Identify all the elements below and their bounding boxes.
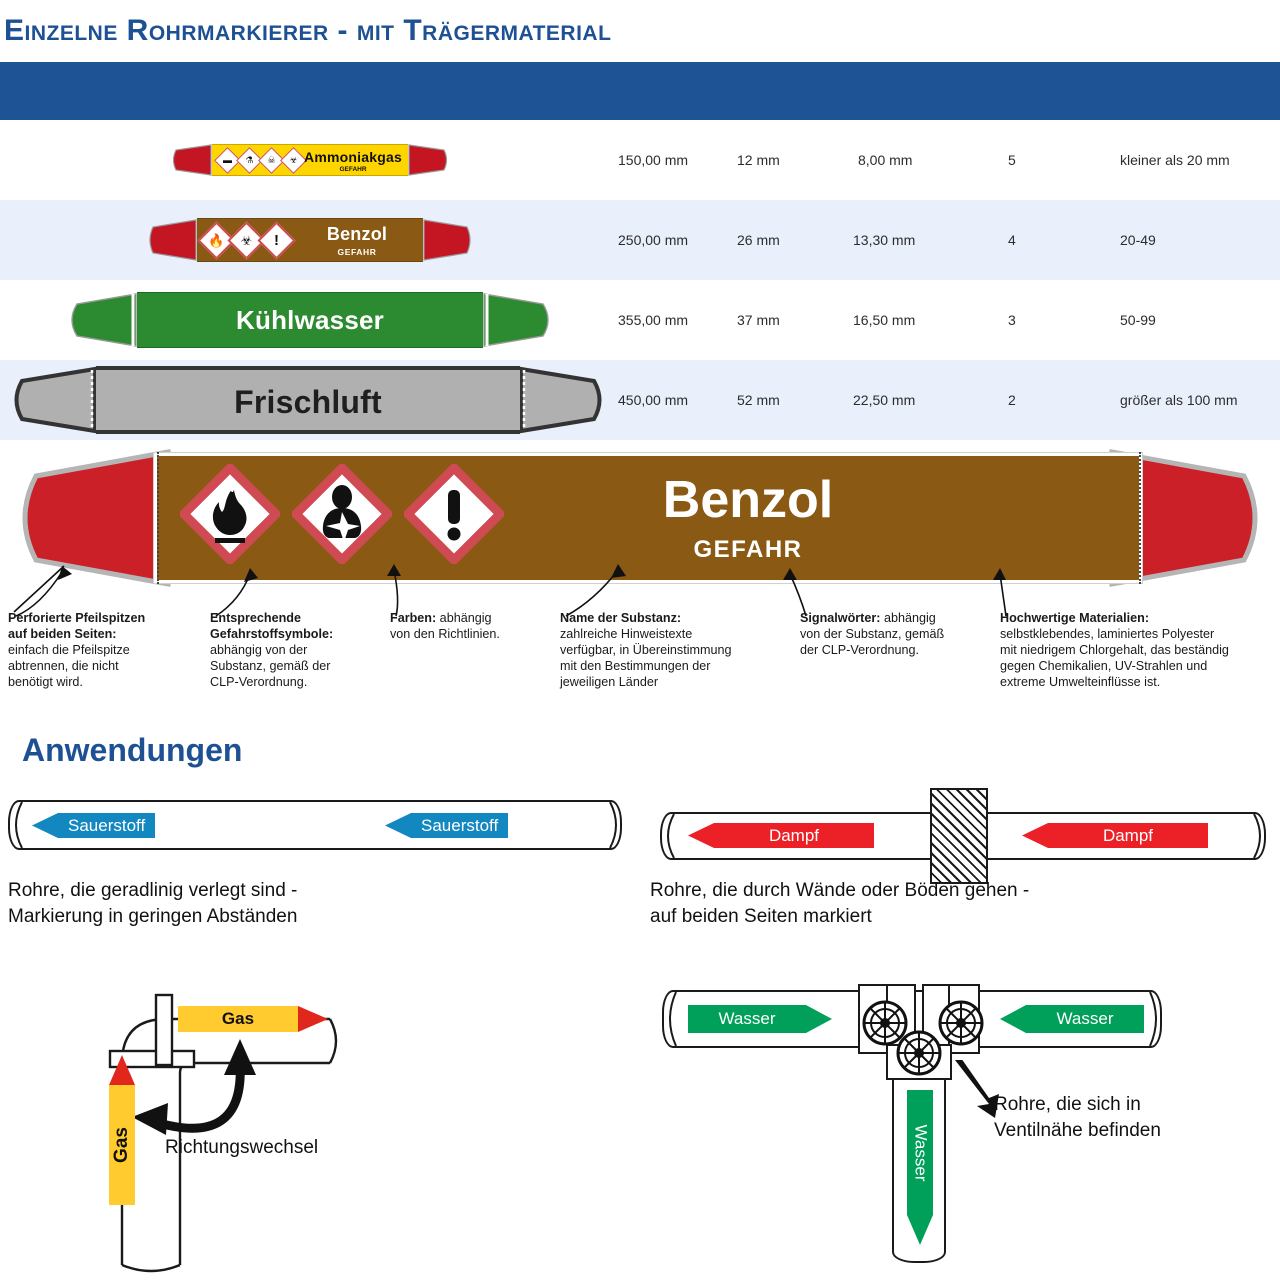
callout-line: extreme Umwelteinflüsse ist. xyxy=(1000,674,1280,690)
flame-icon xyxy=(180,464,280,564)
callout-line: mit den Bestimmungen der xyxy=(560,658,780,674)
marker-signal-word: GEFAHR xyxy=(297,247,417,257)
cell-buchstabenhoehe: 13,30 mm xyxy=(853,232,915,248)
tag-label: Sauerstoff xyxy=(411,816,508,836)
marker-signal-word: GEFAHR xyxy=(438,536,1058,564)
callout-line: gegen Chemikalien, UV-Strahlen und xyxy=(1000,658,1280,674)
pipe-marker-ammoniakgas: ▬ ⚗ ☠ ☣ Ammoniakgas GEFAHR xyxy=(170,144,450,176)
pipe-tag-sauerstoff: Sauerstoff xyxy=(32,813,155,838)
gas-cylinder-icon: ▬ xyxy=(218,151,237,170)
marker-label: Ammoniakgas xyxy=(302,149,404,165)
cell-hoehe: 37 mm xyxy=(737,312,780,328)
pipe-tag-dampf: Dampf xyxy=(688,823,874,848)
marker-band: ▬ ⚗ ☠ ☣ Ammoniakgas GEFAHR xyxy=(212,144,408,176)
cell-markierer: 5 xyxy=(1008,152,1016,168)
caption-line: Richtungswechsel xyxy=(165,1135,318,1161)
cell-rohrdurchmesser: größer als 100 mm xyxy=(1120,392,1237,408)
caption-line: Rohre, die geradlinig verlegt sind - xyxy=(8,878,297,904)
perforation-line-left xyxy=(157,452,159,584)
environment-icon: ☣ xyxy=(284,151,303,170)
marker-band: Kühlwasser xyxy=(137,292,483,348)
callout-line: der CLP-Verordnung. xyxy=(800,642,990,658)
callout-hochwertige-materialien: Hochwertige Materialien: selbstklebendes… xyxy=(1000,610,1280,690)
arrow-tip-right-icon xyxy=(483,292,555,348)
valve-wheel-icon xyxy=(896,1030,942,1076)
cell-hoehe: 26 mm xyxy=(737,232,780,248)
callout-title-rest: abhängig xyxy=(880,611,935,625)
caption-straight-pipe: Rohre, die geradlinig verlegt sind - Mar… xyxy=(8,878,297,930)
arrow-right-icon xyxy=(806,1005,832,1033)
pipe-end-left-icon xyxy=(658,812,684,860)
page-root: Einzelne Rohrmarkierer - mit Trägermater… xyxy=(0,0,1280,1280)
cell-rohrdurchmesser: 20-49 xyxy=(1120,232,1156,248)
cell-hoehe: 52 mm xyxy=(737,392,780,408)
pipe-tag-dampf: Dampf xyxy=(1022,823,1208,848)
marker-signal-word: GEFAHR xyxy=(302,166,404,173)
arrow-left-icon xyxy=(385,813,411,838)
callout-line: abtrennen, die nicht xyxy=(8,658,188,674)
arrow-left-icon xyxy=(688,823,714,848)
marker-label: Frischluft xyxy=(96,384,520,421)
pipe-end-right-icon xyxy=(600,800,626,850)
tag-label: Wasser xyxy=(910,1124,930,1181)
pipe-end-left-icon xyxy=(660,990,686,1048)
caption-line: Markierung in geringen Abständen xyxy=(8,904,297,930)
marker-band: 🔥 ☣ ! Benzol GEFAHR xyxy=(197,218,423,262)
callout-line: einfach die Pfeilspitze xyxy=(8,642,188,658)
callout-title: Signalwörter: xyxy=(800,611,880,625)
callout-line: verfügbar, in Übereinstimmung xyxy=(560,642,780,658)
arrow-tip-left-icon xyxy=(65,292,137,348)
caption-line: Rohre, die durch Wände oder Böden gehen … xyxy=(650,878,1029,904)
table-row: ▬ ⚗ ☠ ☣ Ammoniakgas GEFAHR 150,00 mm 12 … xyxy=(0,120,1280,200)
arrow-tip-left-icon xyxy=(8,444,173,592)
cell-buchstabenhoehe: 8,00 mm xyxy=(858,152,912,168)
marker-substance-name: Benzol xyxy=(438,470,1058,530)
callout-line: selbstklebendes, laminiertes Polyester xyxy=(1000,626,1280,642)
caption-line: Rohre, die sich in xyxy=(994,1092,1161,1118)
marker-band: Frischluft xyxy=(96,366,520,434)
tag-label: Sauerstoff xyxy=(58,816,155,836)
health-hazard-icon xyxy=(292,464,392,564)
arrow-right-icon xyxy=(298,1006,328,1032)
callout-title2: Gefahrstoffsymbole: xyxy=(210,627,333,641)
wall-hatch xyxy=(930,788,988,884)
callout-title: Farben: xyxy=(390,611,436,625)
table-row: Frischluft 450,00 mm 52 mm 22,50 mm 2 gr… xyxy=(0,360,1280,440)
caption-valve: Rohre, die sich in Ventilnähe befinden xyxy=(994,1092,1161,1144)
tag-label: Gas xyxy=(212,1009,264,1029)
valve-wheel-icon xyxy=(938,1000,984,1046)
caption-line: Ventilnähe befinden xyxy=(994,1118,1161,1144)
table-header-bar: Länge Höhe (mm) Buchstabenhöhe Markierer… xyxy=(0,62,1280,120)
callout-title: Perforierte Pfeilspitzen xyxy=(8,611,145,625)
pipe-tag-wasser-right: Wasser xyxy=(1000,1005,1144,1033)
table-row: Kühlwasser 355,00 mm 37 mm 16,50 mm 3 50… xyxy=(0,280,1280,360)
cell-buchstabenhoehe: 22,50 mm xyxy=(853,392,915,408)
cell-laenge: 150,00 mm xyxy=(618,152,688,168)
arrow-tip-right-icon xyxy=(408,144,450,176)
callout-line: Substanz, gemäß der xyxy=(210,658,375,674)
cell-markierer: 4 xyxy=(1008,232,1016,248)
tag-label: Dampf xyxy=(759,826,829,846)
marker-label: Benzol xyxy=(297,224,417,245)
pipe-tag-sauerstoff: Sauerstoff xyxy=(385,813,508,838)
callout-gefahrstoffsymbole: Entsprechende Gefahrstoffsymbole: abhäng… xyxy=(210,610,375,690)
callout-title-rest: abhängig xyxy=(436,611,491,625)
applications-heading: Anwendungen xyxy=(22,732,242,769)
callout-line: jeweiligen Länder xyxy=(560,674,780,690)
callout-line: von den Richtlinien. xyxy=(390,626,550,642)
callout-signalwoerter: Signalwörter: abhängig von der Substanz,… xyxy=(800,610,990,658)
callout-perforierte-pfeilspitzen: Perforierte Pfeilspitzen auf beiden Seit… xyxy=(8,610,188,690)
arrow-left-icon xyxy=(32,813,58,838)
cell-rohrdurchmesser: kleiner als 20 mm xyxy=(1120,152,1230,168)
callout-line: benötigt wird. xyxy=(8,674,188,690)
arrow-tip-right-icon xyxy=(520,366,608,434)
callout-title2: auf beiden Seiten: xyxy=(8,627,116,641)
corrosion-icon: ⚗ xyxy=(240,151,259,170)
callout-title: Hochwertige Materialien: xyxy=(1000,611,1149,625)
cell-rohrdurchmesser: 50-99 xyxy=(1120,312,1156,328)
marker-label: Kühlwasser xyxy=(137,305,483,336)
cell-markierer: 2 xyxy=(1008,392,1016,408)
perforation-line-right xyxy=(1139,452,1141,584)
arrow-tip-left-icon xyxy=(145,218,197,262)
arrow-tip-left-icon xyxy=(170,144,212,176)
cell-buchstabenhoehe: 16,50 mm xyxy=(853,312,915,328)
arrow-tip-left-icon xyxy=(8,366,96,434)
caption-direction-change: Richtungswechsel xyxy=(165,1135,318,1161)
tag-label: Wasser xyxy=(1047,1009,1124,1029)
cell-laenge: 355,00 mm xyxy=(618,312,688,328)
pipe-marker-kuehlwasser: Kühlwasser xyxy=(65,292,555,348)
callout-farben: Farben: abhängig von den Richtlinien. xyxy=(390,610,550,642)
cell-laenge: 250,00 mm xyxy=(618,232,688,248)
pictogram-group: ▬ ⚗ ☠ ☣ xyxy=(218,151,303,170)
pipe-marker-frischluft: Frischluft xyxy=(8,366,608,434)
pipe-tag-wasser-left: Wasser xyxy=(688,1005,832,1033)
callout-title: Entsprechende xyxy=(210,611,301,625)
callout-line: mit niedrigem Chlorgehalt, das beständig xyxy=(1000,642,1280,658)
caption-line: auf beiden Seiten markiert xyxy=(650,904,1029,930)
cell-hoehe: 12 mm xyxy=(737,152,780,168)
callout-title: Name der Substanz: xyxy=(560,611,681,625)
tag-label: Gas xyxy=(111,1127,133,1163)
arrow-left-icon xyxy=(1000,1005,1026,1033)
table-row: 🔥 ☣ ! Benzol GEFAHR 250,00 mm 26 mm 13,3… xyxy=(0,200,1280,280)
callout-line: abhängig von der xyxy=(210,642,375,658)
cell-markierer: 3 xyxy=(1008,312,1016,328)
caption-wall-pipe: Rohre, die durch Wände oder Böden gehen … xyxy=(650,878,1029,930)
pipe-end-right-icon xyxy=(1244,812,1270,860)
callout-line: CLP-Verordnung. xyxy=(210,674,375,690)
tag-label-vertical: Wasser xyxy=(907,1090,933,1215)
exclamation-icon: ! xyxy=(263,227,290,254)
cell-laenge: 450,00 mm xyxy=(618,392,688,408)
tag-label-vertical: Gas xyxy=(109,1085,135,1205)
arrow-tip-right-icon xyxy=(423,218,475,262)
page-title: Einzelne Rohrmarkierer - mit Trägermater… xyxy=(4,14,611,48)
skull-icon: ☠ xyxy=(262,151,281,170)
pictogram-group: 🔥 ☣ ! xyxy=(203,227,290,254)
pipe-end-left-icon xyxy=(6,800,32,850)
callout-line: von der Substanz, gemäß xyxy=(800,626,990,642)
callout-line: zahlreiche Hinweistexte xyxy=(560,626,780,642)
tag-label: Wasser xyxy=(709,1009,786,1029)
benzol-detail-marker: Benzol GEFAHR xyxy=(8,452,1272,584)
pipe-tag-gas-horizontal: Gas xyxy=(178,1006,328,1032)
callout-name-der-substanz: Name der Substanz: zahlreiche Hinweistex… xyxy=(560,610,780,690)
pipe-marker-benzol: 🔥 ☣ ! Benzol GEFAHR xyxy=(145,218,475,262)
tag-label: Dampf xyxy=(1093,826,1163,846)
arrow-left-icon xyxy=(1022,823,1048,848)
